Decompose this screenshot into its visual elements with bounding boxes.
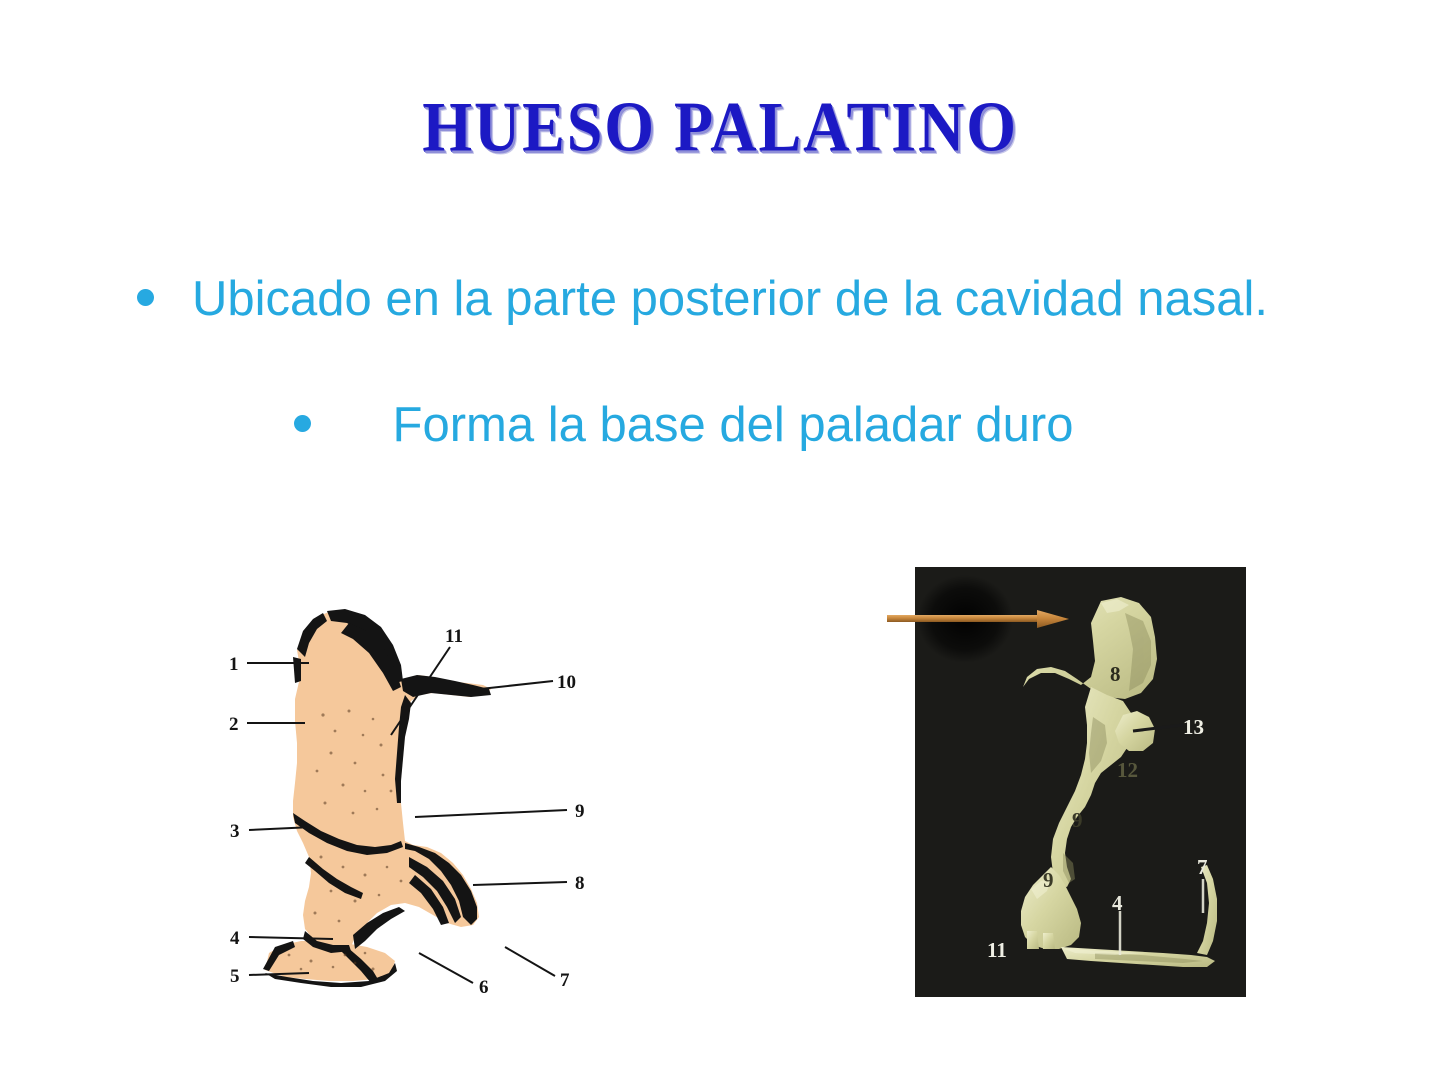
drawing-label: 1 [229, 654, 239, 675]
photo-label: 11 [987, 938, 1007, 962]
bullet-list: Ubicado en la parte posterior de la cavi… [0, 262, 1440, 462]
list-item: Forma la base del paladar duro [0, 388, 1440, 462]
drawing-label: 6 [479, 977, 489, 995]
photo-label: 13 [1183, 715, 1204, 739]
drawing-label: 3 [230, 821, 240, 842]
photo-label: 9 [1072, 808, 1083, 832]
photo-label: 7 [1197, 855, 1208, 879]
drawing-label: 8 [575, 873, 585, 894]
palatine-bone-illustration: 1 2 3 4 5 6 7 8 9 10 11 [205, 595, 620, 995]
photo-label: 8 [1110, 662, 1121, 686]
photo-label: 12 [1117, 758, 1138, 782]
drawing-label: 11 [445, 626, 463, 647]
slide-canvas: HUESO PALATINO Ubicado en la parte poste… [0, 0, 1440, 1080]
page-title: HUESO PALATINO [0, 92, 1440, 164]
bullet-dot-icon [137, 289, 154, 306]
drawing-label: 7 [560, 970, 570, 991]
drawing-label: 9 [575, 801, 585, 822]
palatine-bone-specimen-photo: 8 13 12 9 9 4 7 11 [915, 567, 1246, 997]
drawing-label: 10 [557, 672, 576, 693]
list-item-label: Forma la base del paladar duro [284, 388, 1182, 462]
page-title-text: HUESO PALATINO [422, 89, 1018, 167]
list-item: Ubicado en la parte posterior de la cavi… [0, 262, 1440, 336]
bullet-dot-icon [294, 415, 311, 432]
drawing-label: 2 [229, 714, 239, 735]
drawing-label: 5 [230, 966, 240, 987]
figure-row: 1 2 3 4 5 6 7 8 9 10 11 [0, 540, 1440, 1060]
drawing-label: 4 [230, 928, 240, 949]
photo-label: 9 [1043, 868, 1054, 892]
photo-label: 4 [1112, 891, 1123, 915]
orange-arrow-icon [887, 608, 1072, 630]
list-item-label: Ubicado en la parte posterior de la cavi… [130, 262, 1330, 336]
